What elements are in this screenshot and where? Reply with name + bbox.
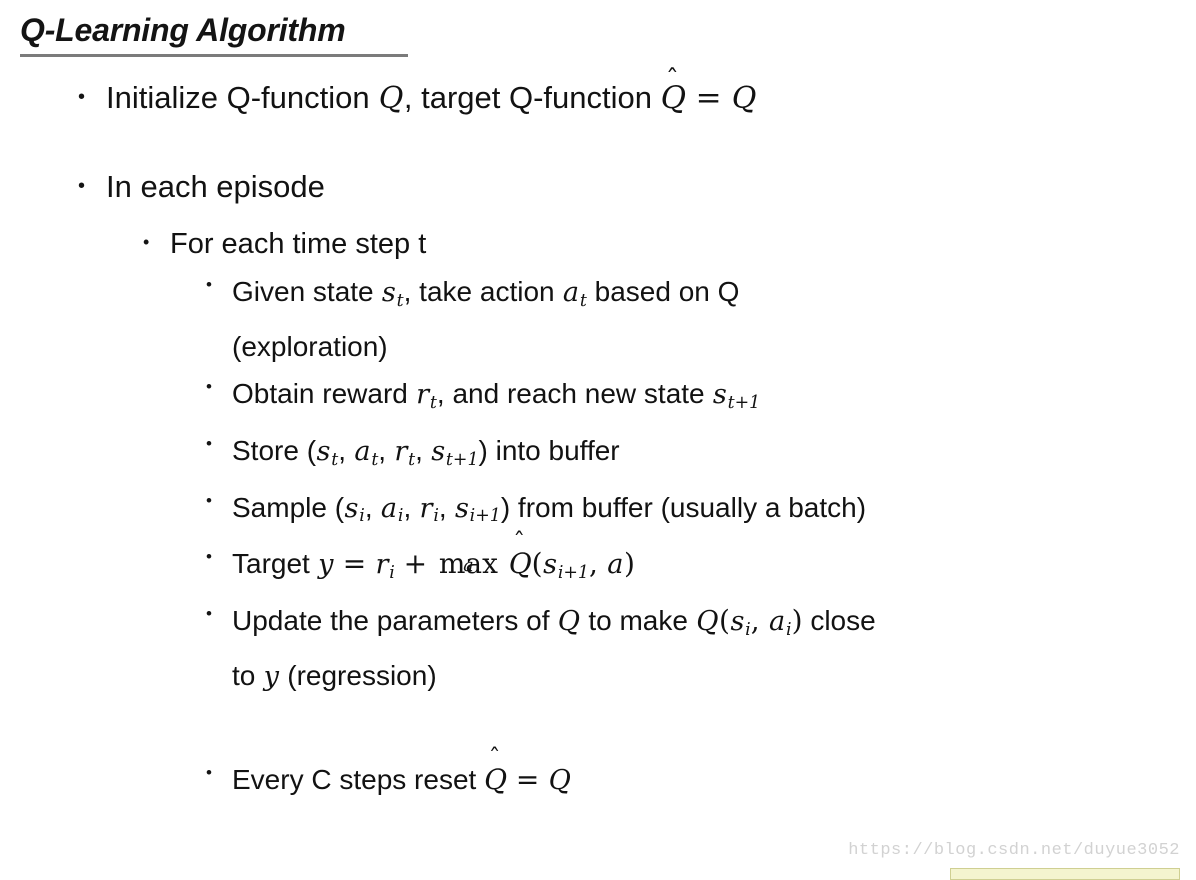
math-q1: Q xyxy=(557,606,580,637)
list-item-target: • Target y = ri + maxa ˆQ(si+1, a) xyxy=(0,541,1196,596)
math-a1: a xyxy=(354,436,371,467)
math-q-hat: ˆQ xyxy=(661,78,686,118)
math-q-hat: ˆQ xyxy=(484,757,507,802)
math-s2-subscript: i+1 xyxy=(469,506,500,526)
text-tail: close xyxy=(803,605,876,636)
text-sep3: , xyxy=(415,435,431,466)
bullet-list: • Initialize Q-function Q, target Q-func… xyxy=(0,78,1196,805)
math-s2-subscript: t+1 xyxy=(446,450,479,470)
math-y: y xyxy=(263,661,279,692)
math-s-subscript: i+1 xyxy=(558,563,589,583)
watermark-url: https://blog.csdn.net/duyue3052 xyxy=(848,841,1180,860)
math-close-paren: ) xyxy=(792,604,803,637)
spacer xyxy=(0,137,1196,167)
text-lead: Initialize Q-function xyxy=(106,80,378,115)
text-sep2: , xyxy=(403,492,419,523)
spacer xyxy=(0,701,1196,757)
list-item-given-state: • Given state st, take action at based o… xyxy=(0,269,1196,369)
math-q-hat: ˆQ xyxy=(509,541,532,586)
math-equals: = xyxy=(342,547,367,580)
math-s1: s xyxy=(316,436,331,467)
bullet-dot-icon: • xyxy=(206,276,212,293)
math-s2: s xyxy=(454,493,469,524)
list-item-every-c-steps: • Every C steps reset ˆQ = Q xyxy=(0,757,1196,803)
list-item-text: Store (st, at, rt, st+1) into buffer xyxy=(232,428,1196,483)
list-item-store: • Store (st, at, rt, st+1) into buffer xyxy=(0,428,1196,483)
list-item-obtain-reward: • Obtain reward rt, and reach new state … xyxy=(0,371,1196,426)
math-s-subscript: t+1 xyxy=(727,393,760,413)
bullet-dot-icon: • xyxy=(78,176,85,196)
list-item-text: Obtain reward rt, and reach new state st… xyxy=(232,371,1196,426)
math-q: Q xyxy=(378,81,404,116)
text-tail: ) into buffer xyxy=(479,435,620,466)
math-q-tail: Q xyxy=(548,765,571,796)
math-a-subscript: t xyxy=(580,291,587,311)
text-lead: Given state xyxy=(232,276,381,307)
math-equals: = xyxy=(515,763,540,796)
highlight-box xyxy=(950,868,1180,880)
math-comma: , xyxy=(751,604,769,637)
math-r: r xyxy=(375,549,389,580)
math-max-operator: maxa xyxy=(436,541,501,586)
text-sep1: , xyxy=(338,435,354,466)
title-underline-rule xyxy=(20,54,408,57)
math-equals: = xyxy=(695,80,723,116)
bullet-dot-icon: • xyxy=(206,548,212,565)
text-sep2: , xyxy=(378,435,394,466)
text-lead: Every C steps reset xyxy=(232,764,484,795)
text-mid: to make xyxy=(581,605,696,636)
math-r1: r xyxy=(394,436,408,467)
list-item-update: • Update the parameters of Q to make Q(s… xyxy=(0,598,1196,699)
bullet-dot-icon: • xyxy=(78,87,85,107)
text-line2-tail: (regression) xyxy=(279,660,436,691)
text-sep1: , xyxy=(365,492,381,523)
text-tail: ) from buffer (usually a batch) xyxy=(501,492,866,523)
text-lead: Sample ( xyxy=(232,492,344,523)
math-comma: , xyxy=(589,547,607,580)
math-s: s xyxy=(712,379,727,410)
text-line2: (exploration) xyxy=(232,331,388,362)
math-q2: Q xyxy=(696,606,719,637)
math-s: s xyxy=(381,277,396,308)
page-title: Q-Learning Algorithm xyxy=(20,12,345,49)
slide-canvas: { "slide": { "title": "Q-Learning Algori… xyxy=(0,0,1196,880)
list-item-text: Every C steps reset ˆQ = Q xyxy=(232,757,1196,803)
math-r-subscript: t xyxy=(430,393,437,413)
math-a: a xyxy=(769,606,786,637)
bullet-dot-icon: • xyxy=(206,435,212,452)
text-lead: Update the parameters of xyxy=(232,605,557,636)
bullet-dot-icon: • xyxy=(206,605,212,622)
list-item-text: Update the parameters of Q to make Q(si,… xyxy=(232,598,1196,699)
bullet-dot-icon: • xyxy=(206,764,212,781)
text-line2-lead: to xyxy=(232,660,263,691)
math-a: a xyxy=(562,277,579,308)
text-mid: , take action xyxy=(404,276,563,307)
math-a: a xyxy=(607,549,624,580)
text-tail: based on Q xyxy=(587,276,740,307)
math-y: y xyxy=(318,549,334,580)
math-s-subscript: t xyxy=(396,291,403,311)
list-item-text: Given state st, take action at based on … xyxy=(232,269,1196,369)
text-lead: Target xyxy=(232,548,318,579)
bullet-dot-icon: • xyxy=(206,378,212,395)
bullet-dot-icon: • xyxy=(143,233,149,251)
math-q-tail: Q xyxy=(731,81,757,116)
math-s: s xyxy=(543,549,558,580)
text-lead: Obtain reward xyxy=(232,378,416,409)
list-item-initialize: • Initialize Q-function Q, target Q-func… xyxy=(0,78,1196,119)
math-open-paren: ( xyxy=(719,604,730,637)
math-r-subscript: i xyxy=(389,563,395,583)
math-a1: a xyxy=(380,493,397,524)
math-open-paren: ( xyxy=(532,547,543,580)
max-limit-variable: a xyxy=(436,558,501,575)
math-s1: s xyxy=(344,493,359,524)
math-r1: r xyxy=(419,493,433,524)
list-item-text: For each time step t xyxy=(170,225,1196,263)
list-item-text: Initialize Q-function Q, target Q-functi… xyxy=(106,78,1196,119)
bullet-dot-icon: • xyxy=(206,492,212,509)
list-item-sample: • Sample (si, ai, ri, si+1) from buffer … xyxy=(0,485,1196,540)
text-sep3: , xyxy=(439,492,455,523)
math-s2: s xyxy=(431,436,446,467)
math-r: r xyxy=(416,379,430,410)
math-s: s xyxy=(730,606,745,637)
list-item-text: Target y = ri + maxa ˆQ(si+1, a) xyxy=(232,541,1196,596)
text-mid: , and reach new state xyxy=(437,378,713,409)
list-item-in-each-episode: • In each episode xyxy=(0,167,1196,207)
list-item-text: Sample (si, ai, ri, si+1) from buffer (u… xyxy=(232,485,1196,540)
text-after-q: , target Q-function xyxy=(404,80,661,115)
text-lead: Store ( xyxy=(232,435,316,466)
math-close-paren: ) xyxy=(624,547,635,580)
list-item-for-each-time-step: • For each time step t xyxy=(0,225,1196,263)
list-item-text: In each episode xyxy=(106,167,1196,207)
math-plus: + xyxy=(403,547,428,580)
